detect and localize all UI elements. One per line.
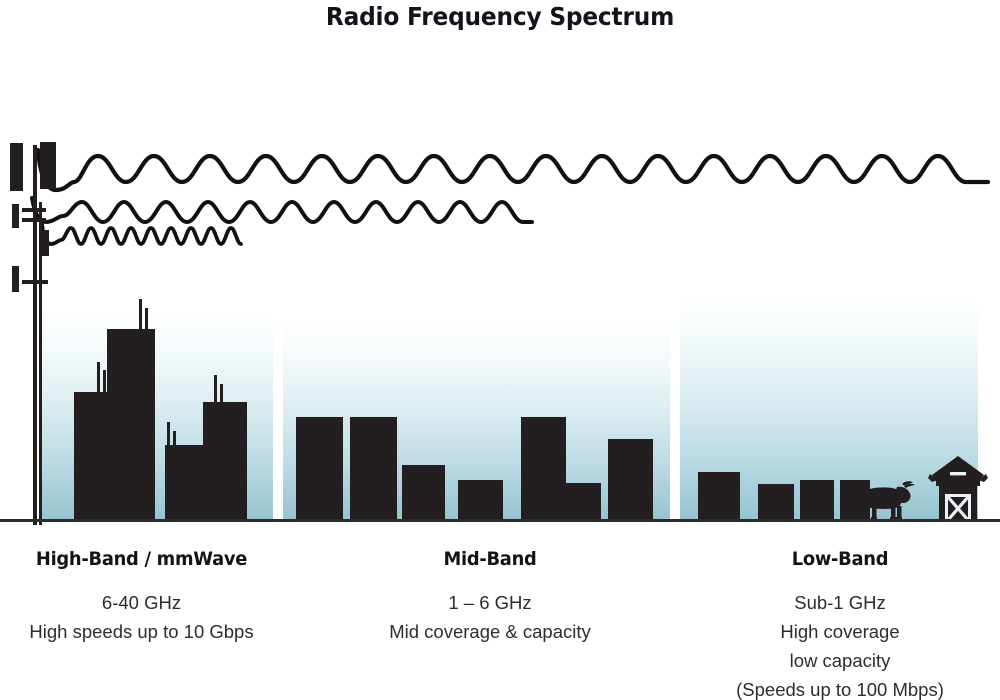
mid-building-4 (458, 480, 503, 520)
building-spire-4b (220, 384, 223, 403)
house-1-body (698, 490, 740, 520)
tower-crossbar-upper-2 (22, 218, 46, 222)
panel-antenna-mid (12, 204, 19, 228)
tower-crossbar-upper (22, 208, 46, 212)
mid-building-6 (566, 483, 601, 520)
band-line: Mid coverage & capacity (330, 617, 650, 646)
panel-antenna-small (41, 230, 49, 256)
panel-antenna-right (40, 142, 56, 189)
mid-building-1 (296, 417, 343, 520)
ground-baseline (0, 519, 1000, 522)
band-lines-high-band: 6-40 GHz High speeds up to 10 Gbps (0, 588, 283, 646)
band-line: (Speeds up to 100 Mbps) (680, 675, 1000, 700)
building-spire-1b (103, 370, 106, 393)
mid-building-5 (521, 417, 566, 520)
band-label-high-band: High-Band / mmWave 6-40 GHz High speeds … (0, 548, 283, 646)
house-1-roof (698, 472, 740, 491)
tower-crossbar-lower (22, 280, 48, 284)
barn-icon (928, 456, 988, 520)
building-spire-1a (97, 362, 100, 393)
house-2-roof (758, 484, 794, 500)
mid-building-3 (402, 465, 445, 520)
band-title-low-band: Low-Band (690, 548, 991, 570)
building-spire-4a (214, 375, 217, 403)
band-lines-mid-band: 1 – 6 GHz Mid coverage & capacity (330, 588, 650, 646)
building-spire-3a (167, 422, 170, 446)
band-line: High coverage (680, 617, 1000, 646)
building-spire-3b (173, 431, 176, 446)
band-label-mid-band: Mid-Band 1 – 6 GHz Mid coverage & capaci… (330, 548, 650, 646)
panel-antenna-bottom (12, 266, 19, 292)
band-line: low capacity (680, 646, 1000, 675)
house-2-body (758, 499, 794, 520)
panel-antenna-left (10, 143, 23, 191)
mid-building-7 (608, 439, 653, 520)
mid-building-2 (350, 417, 397, 520)
band-lines-low-band: Sub-1 GHz High coverage low capacity (Sp… (680, 588, 1000, 700)
band-line: High speeds up to 10 Gbps (0, 617, 283, 646)
band-title-mid-band: Mid-Band (340, 548, 641, 570)
band-line: Sub-1 GHz (680, 588, 1000, 617)
building-right (203, 402, 247, 520)
band-title-high-band: High-Band / mmWave (8, 548, 274, 570)
building-spire-2a (139, 299, 142, 330)
band-line: 1 – 6 GHz (330, 588, 650, 617)
band-line: 6-40 GHz (0, 588, 283, 617)
building-tallest (107, 329, 155, 520)
high-frequency-wave-icon (40, 222, 246, 256)
house-3-body (800, 495, 834, 520)
cell-tower-icon (0, 140, 70, 525)
house-2 (758, 484, 794, 520)
house-3-roof (800, 480, 834, 496)
house-3 (800, 480, 834, 520)
building-spire-2b (145, 308, 148, 330)
cow-icon (855, 477, 917, 521)
tower-mast (33, 145, 37, 525)
page-title: Radio Frequency Spectrum (35, 2, 965, 31)
band-label-low-band: Low-Band Sub-1 GHz High coverage low cap… (680, 548, 1000, 700)
house-1 (698, 472, 740, 520)
building-short-block (165, 445, 205, 520)
infographic-canvas: Radio Frequency Spectrum (0, 0, 1000, 700)
